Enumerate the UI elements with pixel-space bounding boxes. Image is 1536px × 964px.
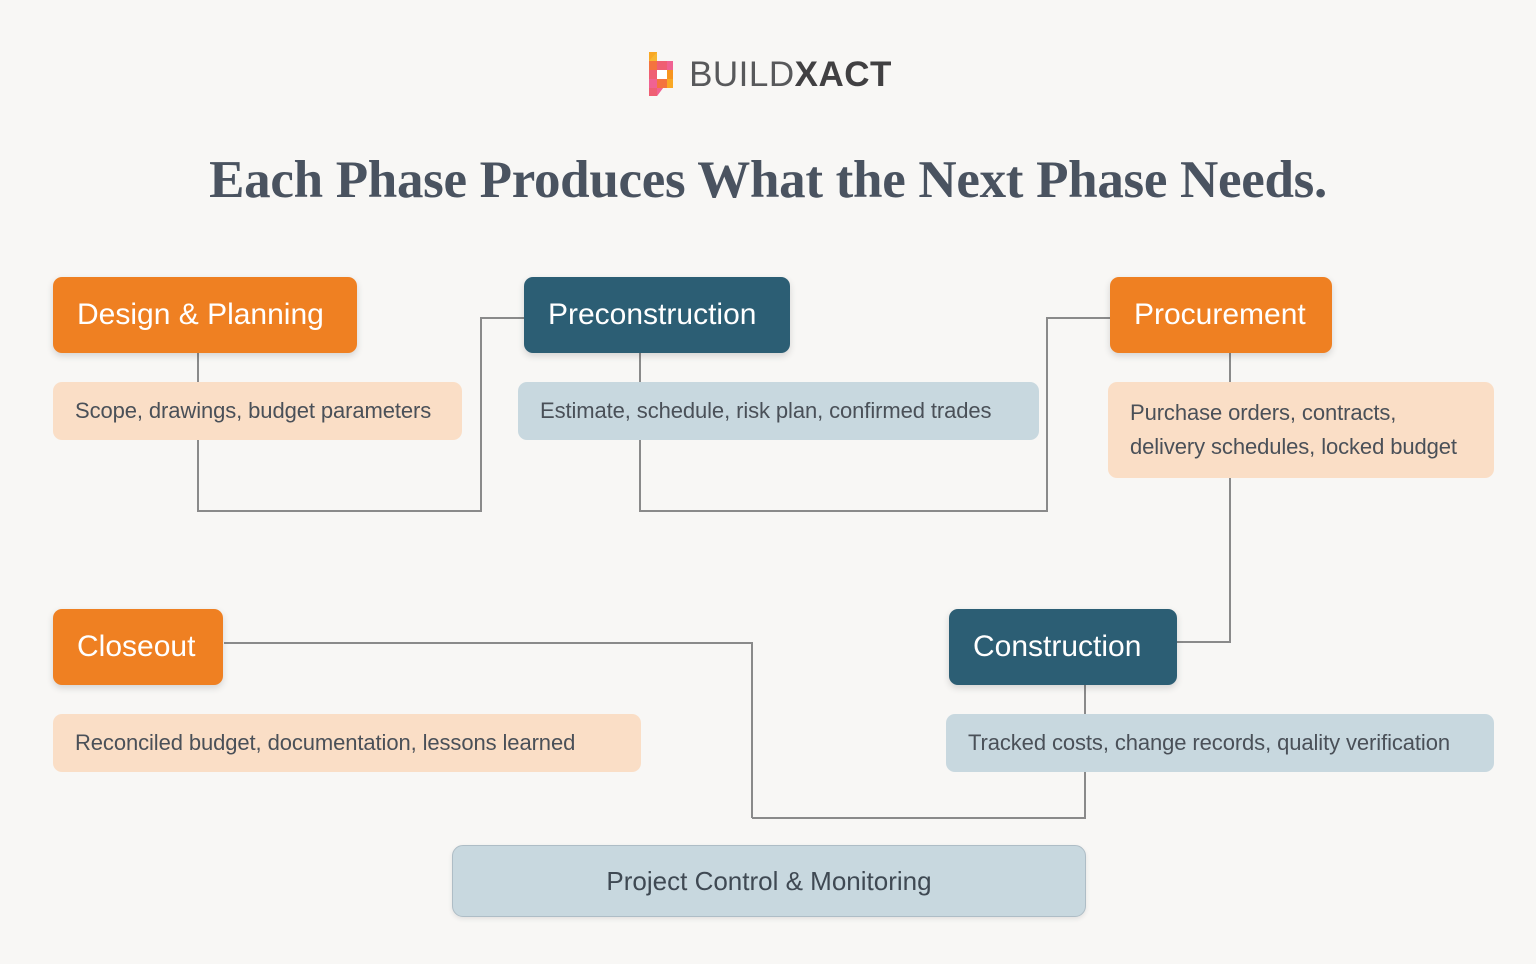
diagram-canvas: BUILDXACT Each Phase Produces What the N…: [0, 0, 1536, 964]
output-box-closeout: Reconciled budget, documentation, lesson…: [53, 714, 641, 772]
phase-label: Construction: [973, 632, 1141, 662]
output-box-procurement: Purchase orders, contracts, delivery sch…: [1108, 382, 1494, 478]
phase-label: Preconstruction: [548, 300, 756, 330]
phase-box-design-planning[interactable]: Design & Planning: [53, 277, 357, 353]
output-line: Purchase orders, contracts,: [1130, 396, 1472, 430]
project-control-monitoring-band[interactable]: Project Control & Monitoring: [452, 845, 1086, 917]
connector-lines: [0, 0, 1536, 964]
buildxact-wordmark: BUILDXACT: [689, 57, 892, 92]
output-line: delivery schedules, locked budget: [1130, 430, 1472, 464]
buildxact-b-mark-icon: [644, 52, 678, 96]
phase-box-construction[interactable]: Construction: [949, 609, 1177, 685]
phase-box-closeout[interactable]: Closeout: [53, 609, 223, 685]
output-box-construction: Tracked costs, change records, quality v…: [946, 714, 1494, 772]
phase-label: Design & Planning: [77, 300, 324, 330]
output-line: Estimate, schedule, risk plan, confirmed…: [540, 394, 1017, 428]
buildxact-logo: BUILDXACT: [0, 48, 1536, 100]
phase-label: Closeout: [77, 632, 195, 662]
wordmark-build: BUILD: [689, 55, 795, 94]
phase-label: Procurement: [1134, 300, 1306, 330]
phase-box-preconstruction[interactable]: Preconstruction: [524, 277, 790, 353]
output-box-preconstruction: Estimate, schedule, risk plan, confirmed…: [518, 382, 1039, 440]
phase-box-procurement[interactable]: Procurement: [1110, 277, 1332, 353]
page-title: Each Phase Produces What the Next Phase …: [0, 148, 1536, 212]
output-line: Reconciled budget, documentation, lesson…: [75, 726, 619, 760]
wordmark-xact: XACT: [795, 55, 892, 94]
output-box-design-planning: Scope, drawings, budget parameters: [53, 382, 462, 440]
output-line: Scope, drawings, budget parameters: [75, 394, 440, 428]
control-band-label: Project Control & Monitoring: [606, 868, 931, 894]
output-line: Tracked costs, change records, quality v…: [968, 726, 1472, 760]
